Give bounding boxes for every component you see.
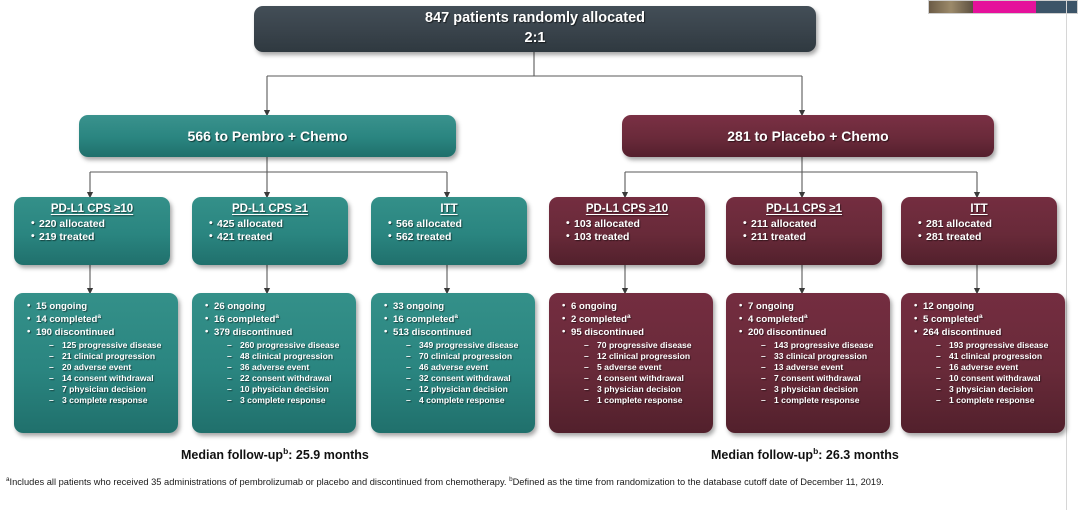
discontinued-reason: 193 progressive disease bbox=[936, 340, 1059, 351]
allocation-list: 281 allocated 281 treated bbox=[909, 218, 1049, 245]
allocation-box-placebo-cps10: PD-L1 CPS ≥10 103 allocated 103 treated bbox=[549, 197, 705, 265]
discontinued-reason: 3 complete response bbox=[227, 395, 350, 406]
allocation-list: 220 allocated 219 treated bbox=[22, 218, 162, 245]
allocation-item: 281 treated bbox=[918, 231, 1049, 244]
allocation-title: ITT bbox=[909, 203, 1049, 215]
arm-label-placebo: 281 to Placebo + Chemo bbox=[727, 128, 888, 144]
discontinued-reason: 143 progressive disease bbox=[761, 340, 884, 351]
discontinued-reason: 260 progressive disease bbox=[227, 340, 350, 351]
allocation-item: 211 treated bbox=[743, 231, 874, 244]
detail-completed: 4 completeda bbox=[739, 314, 884, 327]
allocation-title: PD-L1 CPS ≥1 bbox=[734, 203, 874, 215]
discontinued-reason: 13 adverse event bbox=[761, 362, 884, 373]
allocation-item: 421 treated bbox=[209, 231, 340, 244]
median-followup-pembro: Median follow-upb: 25.9 months bbox=[181, 448, 369, 462]
detail-box-pembro-cps1: 26 ongoing 16 completeda 379 discontinue… bbox=[192, 293, 356, 433]
footnote-marker-a: a bbox=[454, 313, 458, 320]
footnote-marker-a: a bbox=[275, 313, 279, 320]
detail-completed: 16 completeda bbox=[205, 314, 350, 327]
strip-segment-magenta bbox=[973, 1, 1035, 13]
discontinued-reason: 7 consent withdrawal bbox=[761, 373, 884, 384]
discontinued-reason: 1 complete response bbox=[584, 395, 707, 406]
discontinued-reason: 46 adverse event bbox=[406, 362, 529, 373]
footnote-text: aIncludes all patients who received 35 a… bbox=[6, 476, 968, 490]
detail-completed: 5 completeda bbox=[914, 314, 1059, 327]
detail-list: 12 ongoing 5 completeda 264 discontinued… bbox=[908, 301, 1059, 407]
discontinued-reason: 10 consent withdrawal bbox=[936, 373, 1059, 384]
detail-completed: 14 completeda bbox=[27, 314, 172, 327]
allocation-title: PD-L1 CPS ≥1 bbox=[200, 203, 340, 215]
detail-list: 6 ongoing 2 completeda 95 discontinued 7… bbox=[556, 301, 707, 407]
discontinued-reason: 4 complete response bbox=[406, 395, 529, 406]
detail-box-placebo-cps10: 6 ongoing 2 completeda 95 discontinued 7… bbox=[549, 293, 713, 433]
footnote-marker-a: a bbox=[804, 313, 808, 320]
detail-list: 15 ongoing 14 completeda 190 discontinue… bbox=[21, 301, 172, 407]
allocation-box-pembro-cps1: PD-L1 CPS ≥1 425 allocated 421 treated bbox=[192, 197, 348, 265]
detail-discontinued: 95 discontinued 70 progressive disease 1… bbox=[562, 327, 707, 407]
header-title-line2: 2:1 bbox=[525, 29, 546, 49]
discontinued-reason: 70 progressive disease bbox=[584, 340, 707, 351]
allocation-title: PD-L1 CPS ≥10 bbox=[22, 203, 162, 215]
arm-box-pembro: 566 to Pembro + Chemo bbox=[79, 115, 456, 157]
discontinued-reason-list: 193 progressive disease 41 clinical prog… bbox=[923, 340, 1059, 407]
discontinued-reason: 1 complete response bbox=[761, 395, 884, 406]
detail-discontinued: 379 discontinued 260 progressive disease… bbox=[205, 327, 350, 407]
footnote-marker-a: a bbox=[627, 313, 631, 320]
top-image-strip bbox=[928, 0, 1078, 14]
detail-box-placebo-itt: 12 ongoing 5 completeda 264 discontinued… bbox=[901, 293, 1065, 433]
discontinued-reason: 16 adverse event bbox=[936, 362, 1059, 373]
arm-label-pembro: 566 to Pembro + Chemo bbox=[188, 128, 348, 144]
discontinued-reason: 32 consent withdrawal bbox=[406, 373, 529, 384]
arm-box-placebo: 281 to Placebo + Chemo bbox=[622, 115, 994, 157]
allocation-item: 281 allocated bbox=[918, 218, 1049, 231]
randomization-header-box: 847 patients randomly allocated 2:1 bbox=[254, 6, 816, 52]
allocation-list: 425 allocated 421 treated bbox=[200, 218, 340, 245]
discontinued-reason: 21 clinical progression bbox=[49, 351, 172, 362]
allocation-item: 220 allocated bbox=[31, 218, 162, 231]
allocation-list: 103 allocated 103 treated bbox=[557, 218, 697, 245]
discontinued-reason: 22 consent withdrawal bbox=[227, 373, 350, 384]
allocation-item: 103 treated bbox=[566, 231, 697, 244]
discontinued-reason-list: 349 progressive disease 70 clinical prog… bbox=[393, 340, 529, 407]
allocation-item: 566 allocated bbox=[388, 218, 519, 231]
discontinued-reason-list: 125 progressive disease 21 clinical prog… bbox=[36, 340, 172, 407]
allocation-list: 211 allocated 211 treated bbox=[734, 218, 874, 245]
discontinued-reason: 3 complete response bbox=[49, 395, 172, 406]
discontinued-reason: 33 clinical progression bbox=[761, 351, 884, 362]
discontinued-reason-list: 70 progressive disease 12 clinical progr… bbox=[571, 340, 707, 407]
allocation-item: 562 treated bbox=[388, 231, 519, 244]
discontinued-reason: 3 physician decision bbox=[584, 384, 707, 395]
detail-list: 7 ongoing 4 completeda 200 discontinued … bbox=[733, 301, 884, 407]
allocation-item: 219 treated bbox=[31, 231, 162, 244]
discontinued-reason: 48 clinical progression bbox=[227, 351, 350, 362]
detail-discontinued: 264 discontinued 193 progressive disease… bbox=[914, 327, 1059, 407]
flowchart-page: 847 patients randomly allocated 2:1 566 … bbox=[0, 0, 1080, 510]
discontinued-reason-list: 143 progressive disease 33 clinical prog… bbox=[748, 340, 884, 407]
strip-segment-slate bbox=[1036, 1, 1077, 13]
footnote-marker-a: a bbox=[979, 313, 983, 320]
discontinued-reason-list: 260 progressive disease 48 clinical prog… bbox=[214, 340, 350, 407]
allocation-box-placebo-cps1: PD-L1 CPS ≥1 211 allocated 211 treated bbox=[726, 197, 882, 265]
allocation-item: 103 allocated bbox=[566, 218, 697, 231]
detail-box-pembro-cps10: 15 ongoing 14 completeda 190 discontinue… bbox=[14, 293, 178, 433]
allocation-title: ITT bbox=[379, 203, 519, 215]
discontinued-reason: 10 physician decision bbox=[227, 384, 350, 395]
discontinued-reason: 5 adverse event bbox=[584, 362, 707, 373]
discontinued-reason: 3 physician decision bbox=[936, 384, 1059, 395]
detail-ongoing: 6 ongoing bbox=[562, 301, 707, 314]
footnote-marker-a: a bbox=[97, 313, 101, 320]
discontinued-reason: 36 adverse event bbox=[227, 362, 350, 373]
allocation-box-pembro-cps10: PD-L1 CPS ≥10 220 allocated 219 treated bbox=[14, 197, 170, 265]
detail-ongoing: 12 ongoing bbox=[914, 301, 1059, 314]
detail-list: 33 ongoing 16 completeda 513 discontinue… bbox=[378, 301, 529, 407]
discontinued-reason: 4 consent withdrawal bbox=[584, 373, 707, 384]
discontinued-reason: 14 consent withdrawal bbox=[49, 373, 172, 384]
strip-segment-photo bbox=[929, 1, 973, 13]
detail-box-placebo-cps1: 7 ongoing 4 completeda 200 discontinued … bbox=[726, 293, 890, 433]
allocation-box-placebo-itt: ITT 281 allocated 281 treated bbox=[901, 197, 1057, 265]
allocation-item: 211 allocated bbox=[743, 218, 874, 231]
detail-box-pembro-itt: 33 ongoing 16 completeda 513 discontinue… bbox=[371, 293, 535, 433]
allocation-title: PD-L1 CPS ≥10 bbox=[557, 203, 697, 215]
allocation-box-pembro-itt: ITT 566 allocated 562 treated bbox=[371, 197, 527, 265]
header-title-line1: 847 patients randomly allocated bbox=[425, 9, 645, 29]
detail-discontinued: 513 discontinued 349 progressive disease… bbox=[384, 327, 529, 407]
discontinued-reason: 41 clinical progression bbox=[936, 351, 1059, 362]
discontinued-reason: 349 progressive disease bbox=[406, 340, 529, 351]
discontinued-reason: 70 clinical progression bbox=[406, 351, 529, 362]
discontinued-reason: 12 physician decision bbox=[406, 384, 529, 395]
discontinued-reason: 12 clinical progression bbox=[584, 351, 707, 362]
allocation-item: 425 allocated bbox=[209, 218, 340, 231]
detail-completed: 16 completeda bbox=[384, 314, 529, 327]
discontinued-reason: 125 progressive disease bbox=[49, 340, 172, 351]
median-followup-placebo: Median follow-upb: 26.3 months bbox=[711, 448, 899, 462]
detail-ongoing: 7 ongoing bbox=[739, 301, 884, 314]
allocation-list: 566 allocated 562 treated bbox=[379, 218, 519, 245]
discontinued-reason: 20 adverse event bbox=[49, 362, 172, 373]
page-edge-line bbox=[1066, 0, 1067, 510]
discontinued-reason: 7 physician decision bbox=[49, 384, 172, 395]
detail-list: 26 ongoing 16 completeda 379 discontinue… bbox=[199, 301, 350, 407]
detail-discontinued: 190 discontinued 125 progressive disease… bbox=[27, 327, 172, 407]
discontinued-reason: 1 complete response bbox=[936, 395, 1059, 406]
detail-completed: 2 completeda bbox=[562, 314, 707, 327]
discontinued-reason: 3 physician decision bbox=[761, 384, 884, 395]
detail-discontinued: 200 discontinued 143 progressive disease… bbox=[739, 327, 884, 407]
